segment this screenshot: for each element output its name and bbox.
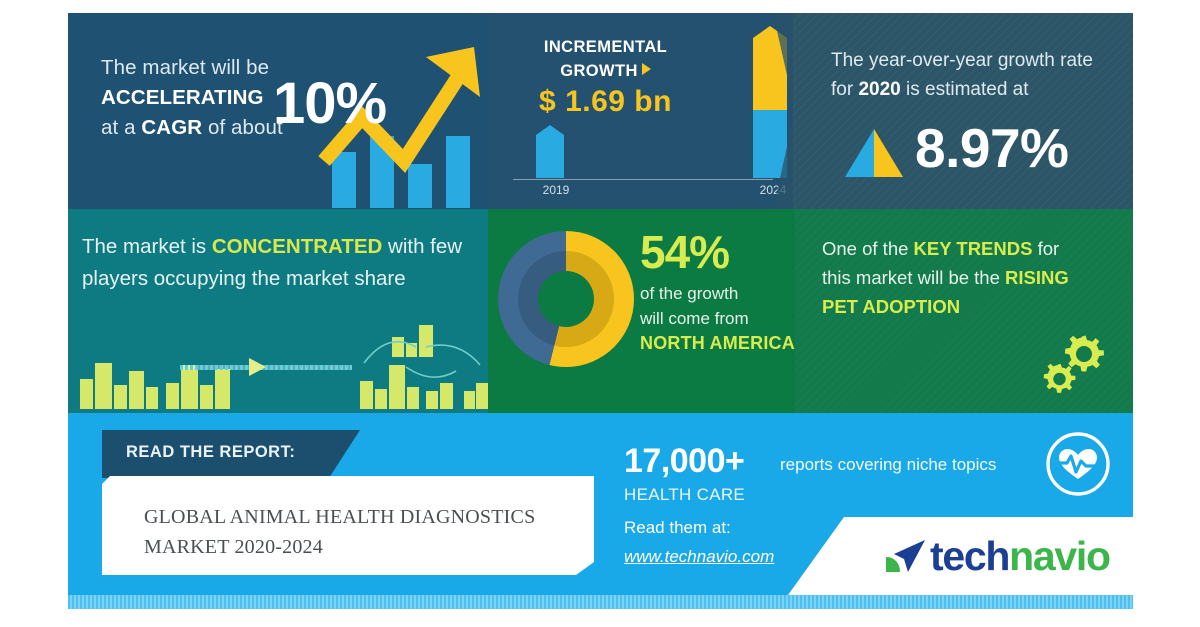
column-2019 bbox=[536, 125, 564, 178]
cagr-value: 10% bbox=[273, 75, 386, 133]
key-trends-statement: One of the KEY TRENDS for this market wi… bbox=[822, 234, 1122, 321]
trends-text-part2: for bbox=[1032, 238, 1059, 259]
row-market-metrics: The market will be ACCELERATING at a CAG… bbox=[68, 13, 1133, 209]
website-link[interactable]: www.technavio.com bbox=[624, 547, 774, 567]
footer-stripe bbox=[68, 595, 1133, 609]
technavio-logo-panel: technavio bbox=[788, 517, 1133, 595]
yoy-statement: The year-over-year growth rate for 2020 … bbox=[831, 46, 1121, 104]
panel-market-concentration: The market is CONCENTRATED with few play… bbox=[68, 209, 488, 413]
buildings-market-share-icon bbox=[76, 309, 488, 409]
concentration-statement: The market is CONCENTRATED with few play… bbox=[82, 231, 482, 295]
cagr-text-cagr: CAGR bbox=[141, 116, 202, 139]
triangle-up-icon bbox=[845, 129, 903, 177]
concentration-text-part2: with few bbox=[382, 235, 462, 258]
read-the-report-label: READ THE REPORT: bbox=[126, 443, 295, 462]
panel-key-trends: One of the KEY TRENDS for this market wi… bbox=[795, 209, 1133, 413]
concentration-text-bold: CONCENTRATED bbox=[212, 235, 382, 258]
technavio-paper-plane-icon bbox=[884, 537, 926, 575]
report-title-card[interactable]: GLOBAL ANIMAL HEALTH DIAGNOSTICS MARKET … bbox=[102, 476, 594, 575]
logo-text-navio: navio bbox=[1009, 533, 1110, 579]
gears-icon bbox=[1029, 329, 1109, 399]
panel-cagr: The market will be ACCELERATING at a CAG… bbox=[68, 13, 488, 209]
incremental-title-line2: GROWTH bbox=[560, 62, 638, 80]
row-market-insights: The market is CONCENTRATED with few play… bbox=[68, 209, 1133, 413]
yoy-text-part3: is estimated at bbox=[901, 79, 1029, 100]
report-title-line2: MARKET 2020-2024 bbox=[144, 536, 323, 558]
technavio-wordmark: technavio bbox=[930, 533, 1110, 580]
report-title-line1: GLOBAL ANIMAL HEALTH DIAGNOSTICS bbox=[144, 506, 535, 528]
read-the-report-tab: READ THE REPORT: bbox=[102, 430, 360, 478]
trends-text-rising: RISING bbox=[1005, 267, 1069, 288]
yoy-text-year: 2020 bbox=[858, 79, 900, 100]
trends-text-part3: this market will be the bbox=[822, 267, 1005, 288]
cagr-text-accelerating: ACCELERATING bbox=[101, 86, 264, 109]
incremental-growth-value: $ 1.69 bn bbox=[508, 85, 703, 119]
chart-axis-line bbox=[513, 179, 773, 180]
donut-hole bbox=[538, 271, 594, 327]
column-2024-base-segment bbox=[753, 110, 787, 178]
concentration-text-part1: The market is bbox=[82, 235, 212, 258]
reports-count-description: reports covering niche topics bbox=[780, 455, 996, 475]
yoy-text-part1: The year-over-year growth rate bbox=[831, 50, 1093, 71]
panel-incremental-growth: INCREMENTAL GROWTH $ 1.69 bn 2019 2024 bbox=[488, 13, 793, 209]
triangle-right-half bbox=[874, 129, 903, 177]
panel-yoy-growth: The year-over-year growth rate for 2020 … bbox=[793, 13, 1133, 209]
play-triangle-icon bbox=[642, 63, 651, 75]
donut-sub-line1: of the growth bbox=[640, 284, 738, 303]
donut-chart-icon bbox=[498, 231, 638, 371]
row-report-footer: READ THE REPORT: GLOBAL ANIMAL HEALTH DI… bbox=[68, 413, 1133, 609]
logo-text-tech: tech bbox=[930, 533, 1009, 579]
triangle-left-half bbox=[845, 129, 874, 177]
concentration-text-line2: players occupying the market share bbox=[82, 267, 406, 290]
north-america-percent: 54% bbox=[640, 225, 729, 279]
infographic-canvas: The market will be ACCELERATING at a CAG… bbox=[68, 13, 1133, 609]
connector-arcs-icon bbox=[76, 309, 488, 409]
axis-label-2019: 2019 bbox=[526, 183, 586, 197]
yoy-value: 8.97% bbox=[915, 116, 1068, 180]
heartbeat-badge-icon bbox=[1045, 431, 1111, 497]
donut-sub-line2: will come from bbox=[640, 309, 749, 328]
trends-text-part1: One of the bbox=[822, 238, 914, 259]
reports-count: 17,000+ bbox=[624, 442, 744, 481]
north-america-description: of the growth will come from bbox=[640, 281, 790, 331]
north-america-region-label: NORTH AMERICA bbox=[640, 333, 795, 354]
cagr-text-part3: of about bbox=[202, 116, 283, 139]
cagr-text-part1: The market will be bbox=[101, 56, 269, 79]
trends-text-key-trends: KEY TRENDS bbox=[914, 238, 1033, 259]
reports-category: HEALTH CARE bbox=[624, 485, 745, 505]
incremental-title-line1: INCREMENTAL bbox=[544, 38, 667, 56]
read-them-at-label: Read them at: bbox=[624, 518, 731, 538]
cagr-text-part2: at a bbox=[101, 116, 141, 139]
panel-north-america-share: 54% of the growth will come from NORTH A… bbox=[488, 209, 795, 413]
report-title: GLOBAL ANIMAL HEALTH DIAGNOSTICS MARKET … bbox=[144, 502, 564, 562]
trends-text-pet-adoption: PET ADOPTION bbox=[822, 296, 960, 317]
incremental-growth-title: INCREMENTAL GROWTH bbox=[508, 35, 703, 83]
yoy-text-part2: for bbox=[831, 79, 858, 100]
